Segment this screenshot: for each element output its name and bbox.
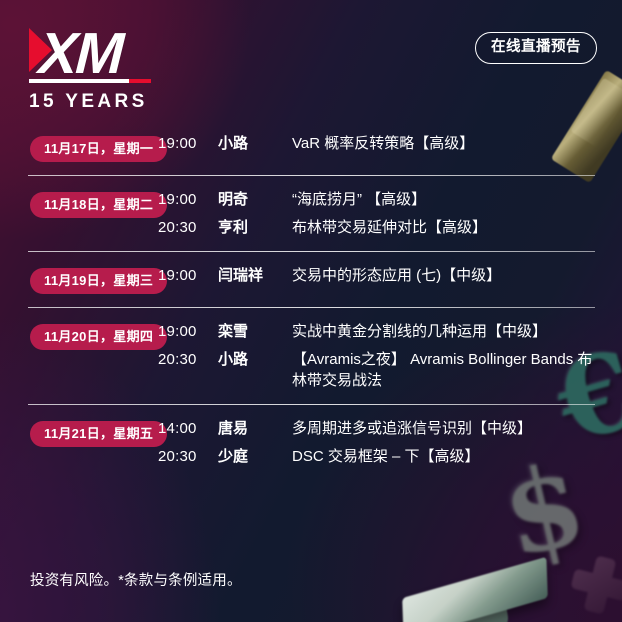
schedule-day-inner: 11月17日，星期一19:00小路VaR 概率反转策略【高级】 <box>0 133 622 162</box>
session-time: 19:00 <box>158 321 218 342</box>
session-column: 19:00闫瑞祥交易中的形态应用 (七)【中级】 <box>158 265 622 286</box>
cap-tassel <box>429 588 441 622</box>
session-title: 实战中黄金分割线的几种运用【中级】 <box>292 321 622 342</box>
session-title: 交易中的形态应用 (七)【中级】 <box>292 265 622 286</box>
session-title: 【Avramis之夜】 Avramis Bollinger Bands 布林带交… <box>292 349 622 391</box>
session-speaker: 栾雪 <box>218 321 292 342</box>
session-title: VaR 概率反转策略【高级】 <box>292 133 622 154</box>
schedule-day-inner: 11月20日，星期四19:00栾雪实战中黄金分割线的几种运用【中级】20:30小… <box>0 321 622 391</box>
session-time: 19:00 <box>158 189 218 210</box>
date-column: 11月18日，星期二 <box>0 189 158 218</box>
date-column: 11月17日，星期一 <box>0 133 158 162</box>
graduation-cap-3d-icon <box>400 568 590 622</box>
session-time: 19:00 <box>158 265 218 286</box>
session-row[interactable]: 20:30少庭DSC 交易框架 – 下【高级】 <box>158 446 622 467</box>
session-row[interactable]: 19:00栾雪实战中黄金分割线的几种运用【中级】 <box>158 321 622 342</box>
session-row[interactable]: 14:00唐易多周期进多或追涨信号识别【中级】 <box>158 418 622 439</box>
session-column: 14:00唐易多周期进多或追涨信号识别【中级】20:30少庭DSC 交易框架 –… <box>158 418 622 467</box>
date-pill: 11月20日，星期四 <box>30 324 167 350</box>
session-speaker: 少庭 <box>218 446 292 467</box>
schedule-day-inner: 11月21日，星期五14:00唐易多周期进多或追涨信号识别【中级】20:30少庭… <box>0 418 622 467</box>
logo-divider-red <box>129 79 151 83</box>
session-row[interactable]: 19:00小路VaR 概率反转策略【高级】 <box>158 133 622 154</box>
schedule-day-row: 11月20日，星期四19:00栾雪实战中黄金分割线的几种运用【中级】20:30小… <box>0 307 622 404</box>
schedule-day-inner: 11月18日，星期二19:00明奇“海底捞月” 【高级】20:30亨利布林带交易… <box>0 189 622 238</box>
session-time: 14:00 <box>158 418 218 439</box>
date-pill: 11月17日，星期一 <box>30 136 167 162</box>
plus-sign-3d-icon <box>566 551 622 619</box>
session-speaker: 明奇 <box>218 189 292 210</box>
session-row[interactable]: 20:30亨利布林带交易延伸对比【高级】 <box>158 217 622 238</box>
date-pill: 11月18日，星期二 <box>30 192 167 218</box>
schedule-day-row: 11月17日，星期一19:00小路VaR 概率反转策略【高级】 <box>0 119 622 175</box>
session-speaker: 唐易 <box>218 418 292 439</box>
cap-crown <box>427 596 510 622</box>
date-column: 11月19日，星期三 <box>0 265 158 294</box>
date-column: 11月20日，星期四 <box>0 321 158 350</box>
logo-divider-white <box>29 79 129 83</box>
session-title: 多周期进多或追涨信号识别【中级】 <box>292 418 622 439</box>
schedule-day-row: 11月21日，星期五14:00唐易多周期进多或追涨信号识别【中级】20:30少庭… <box>0 404 622 480</box>
schedule-list: 11月17日，星期一19:00小路VaR 概率反转策略【高级】11月18日，星期… <box>0 119 622 480</box>
session-title: 布林带交易延伸对比【高级】 <box>292 217 622 238</box>
session-time: 20:30 <box>158 217 218 238</box>
session-speaker: 小路 <box>218 133 292 154</box>
cap-board <box>402 557 548 622</box>
session-row[interactable]: 20:30小路【Avramis之夜】 Avramis Bollinger Ban… <box>158 349 622 391</box>
risk-disclaimer: 投资有风险。*条款与条例适用。 <box>30 569 242 590</box>
date-column: 11月21日，星期五 <box>0 418 158 447</box>
session-row[interactable]: 19:00闫瑞祥交易中的形态应用 (七)【中级】 <box>158 265 622 286</box>
session-speaker: 小路 <box>218 349 292 370</box>
session-column: 19:00栾雪实战中黄金分割线的几种运用【中级】20:30小路【Avramis之… <box>158 321 622 391</box>
logo-wordmark: XM <box>37 24 124 77</box>
session-column: 19:00明奇“海底捞月” 【高级】20:30亨利布林带交易延伸对比【高级】 <box>158 189 622 238</box>
schedule-day-row: 11月19日，星期三19:00闫瑞祥交易中的形态应用 (七)【中级】 <box>0 251 622 307</box>
logo-divider <box>29 79 151 83</box>
session-column: 19:00小路VaR 概率反转策略【高级】 <box>158 133 622 154</box>
session-time: 20:30 <box>158 349 218 370</box>
date-pill: 11月21日，星期五 <box>30 421 167 447</box>
session-time: 19:00 <box>158 133 218 154</box>
schedule-day-inner: 11月19日，星期三19:00闫瑞祥交易中的形态应用 (七)【中级】 <box>0 265 622 294</box>
session-time: 20:30 <box>158 446 218 467</box>
date-pill: 11月19日，星期三 <box>30 268 167 294</box>
session-speaker: 闫瑞祥 <box>218 265 292 286</box>
session-row[interactable]: 19:00明奇“海底捞月” 【高级】 <box>158 189 622 210</box>
live-stream-preview-badge[interactable]: 在线直播预告 <box>475 32 597 64</box>
logo-anniversary-label: 15 YEARS <box>29 91 151 113</box>
promo-poster: € $ XM 15 YEARS 在线直播预告 11月17日，星期一19:00小路… <box>0 0 622 622</box>
session-title: DSC 交易框架 – 下【高级】 <box>292 446 622 467</box>
session-title: “海底捞月” 【高级】 <box>292 189 622 210</box>
session-speaker: 亨利 <box>218 217 292 238</box>
xm-logo: XM 15 YEARS <box>29 24 151 113</box>
logo-mark: XM <box>29 24 151 77</box>
schedule-day-row: 11月18日，星期二19:00明奇“海底捞月” 【高级】20:30亨利布林带交易… <box>0 175 622 251</box>
